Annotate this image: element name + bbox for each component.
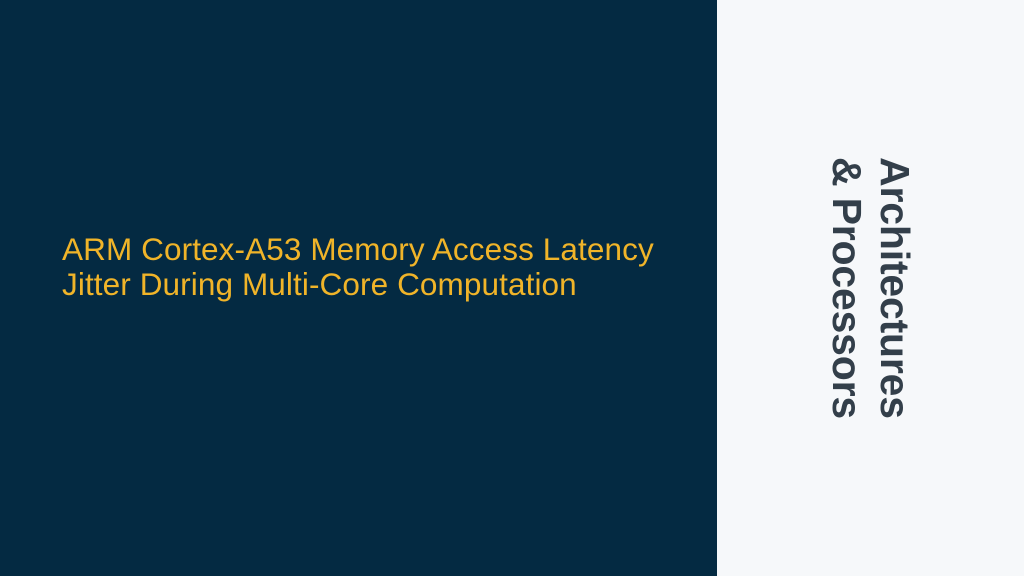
page-title: ARM Cortex-A53 Memory Access Latency Jit… [62,232,672,301]
vertical-category-label: Architectures & Processors [717,0,1024,576]
category-line-2: & Processors [823,157,871,419]
presentation-slide: ARM Cortex-A53 Memory Access Latency Jit… [0,0,1024,576]
category-line-1: Architectures [871,157,919,419]
vertical-category-rotated-text: Architectures & Processors [823,157,919,419]
title-block: ARM Cortex-A53 Memory Access Latency Jit… [62,232,672,301]
